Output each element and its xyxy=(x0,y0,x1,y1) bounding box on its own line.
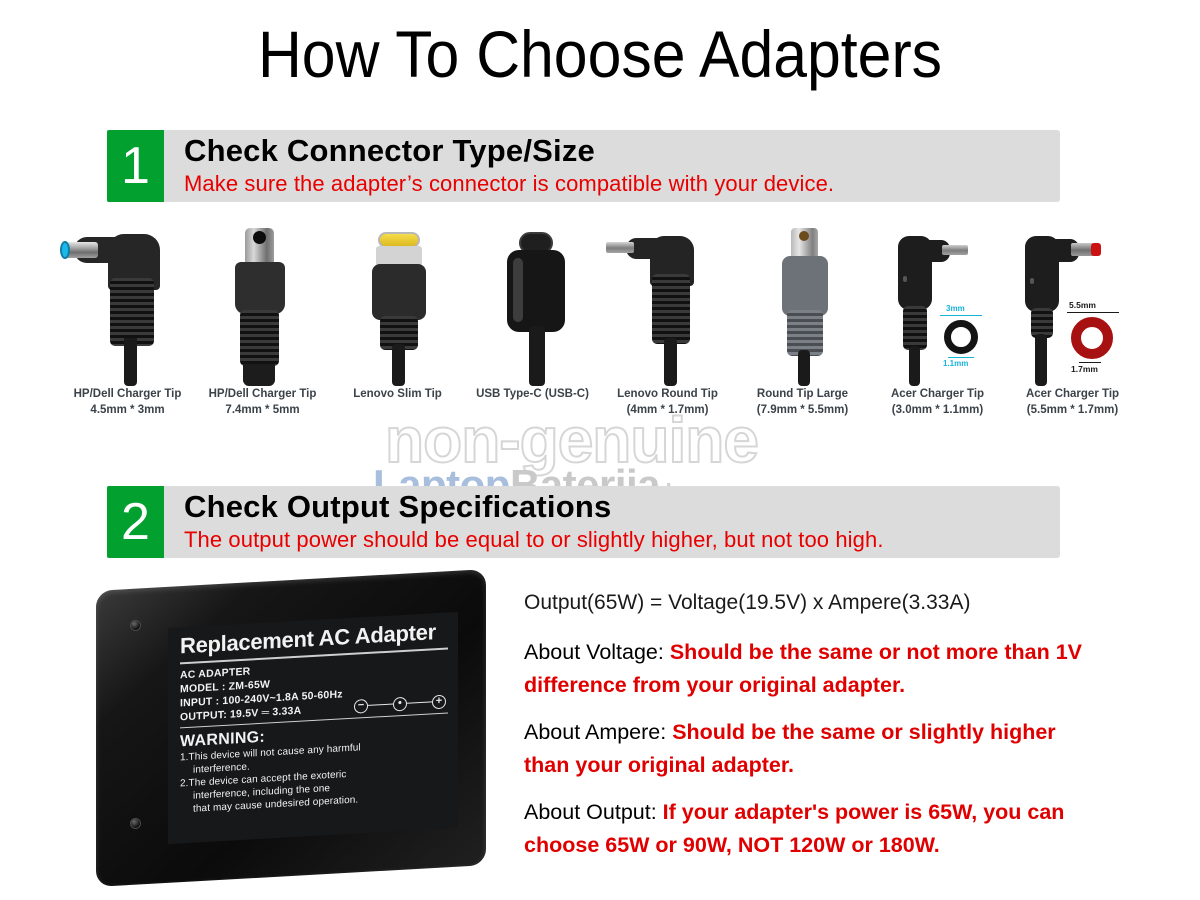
about-voltage-paragraph: About Voltage: Should be the same or not… xyxy=(524,636,1084,702)
connector-size: (5.5mm * 1.7mm) xyxy=(1005,402,1140,418)
page-title: How To Choose Adapters xyxy=(48,14,1152,94)
connector-name: Round Tip Large xyxy=(735,386,870,402)
dimension-callout-small: 3mm 1.1mm xyxy=(930,304,992,372)
about-voltage-lead: About Voltage: xyxy=(524,640,670,664)
dimension-callout-large: 5.5mm 1.7mm xyxy=(1057,300,1133,376)
step-2-number: 2 xyxy=(107,486,164,558)
step-1-text-group: Check Connector Type/Size Make sure the … xyxy=(184,132,1052,198)
acer-3011-tip-icon: 3mm 1.1mm xyxy=(870,226,1005,386)
about-output-lead: About Output: xyxy=(524,800,663,824)
step-2-title: Check Output Specifications xyxy=(184,488,1052,525)
adapter-label-plate: Replacement AC Adapter AC ADAPTER MODEL … xyxy=(168,612,458,844)
infographic-page: How To Choose Adapters 1 Check Connector… xyxy=(0,0,1200,900)
connector-item: 3mm 1.1mm Acer Charger Tip (3.0mm * 1.1m… xyxy=(870,226,1005,436)
dimension-inner-label: 1.7mm xyxy=(1071,364,1098,374)
step-2-header: 2 Check Output Specifications The output… xyxy=(107,486,1060,558)
connector-item: USB Type-C (USB-C) xyxy=(465,226,600,436)
dimension-outer-label: 3mm xyxy=(946,304,965,313)
connector-item: Lenovo Slim Tip xyxy=(330,226,465,436)
connector-item: HP/Dell Charger Tip 4.5mm * 3mm xyxy=(60,226,195,436)
connector-size: (3.0mm * 1.1mm) xyxy=(870,402,1005,418)
adapter-label-title: Replacement AC Adapter xyxy=(180,618,448,659)
polarity-negative-icon: − xyxy=(354,698,368,713)
dimension-inner-label: 1.1mm xyxy=(943,359,968,368)
output-spec-text-column: Output(65W) = Voltage(19.5V) x Ampere(3.… xyxy=(524,588,1084,876)
ac-adapter-photo: Replacement AC Adapter AC ADAPTER MODEL … xyxy=(96,580,486,880)
connector-name: Lenovo Round Tip xyxy=(600,386,735,402)
about-ampere-paragraph: About Ampere: Should be the same or slig… xyxy=(524,716,1084,782)
connector-size: (4mm * 1.7mm) xyxy=(600,402,735,418)
step-2-subtitle: The output power should be equal to or s… xyxy=(184,525,1052,554)
connector-item: HP/Dell Charger Tip 7.4mm * 5mm xyxy=(195,226,330,436)
connector-name: USB Type-C (USB-C) xyxy=(465,386,600,402)
round-tip-large-icon xyxy=(735,226,870,386)
connector-size: 4.5mm * 3mm xyxy=(60,402,195,418)
screw-icon xyxy=(130,620,141,631)
connector-name: HP/Dell Charger Tip xyxy=(195,386,330,402)
adapter-warning-list: 1.This device will not cause any harmful… xyxy=(180,736,448,816)
step-1-subtitle: Make sure the adapter’s connector is com… xyxy=(184,169,1052,198)
connector-name: Acer Charger Tip xyxy=(870,386,1005,402)
step-2-text-group: Check Output Specifications The output p… xyxy=(184,488,1052,554)
screw-icon xyxy=(130,818,141,829)
connector-size: (7.9mm * 5.5mm) xyxy=(735,402,870,418)
connector-name: Acer Charger Tip xyxy=(1005,386,1140,402)
output-equation: Output(65W) = Voltage(19.5V) x Ampere(3.… xyxy=(524,588,1084,618)
polarity-center-icon: • xyxy=(393,696,407,711)
step-1-number: 1 xyxy=(107,130,164,202)
usb-type-c-icon xyxy=(465,226,600,386)
polarity-positive-icon: + xyxy=(432,694,446,709)
connector-item: Lenovo Round Tip (4mm * 1.7mm) xyxy=(600,226,735,436)
lenovo-slim-tip-icon xyxy=(330,226,465,386)
connector-name: HP/Dell Charger Tip xyxy=(60,386,195,402)
acer-5517-tip-icon: 5.5mm 1.7mm xyxy=(1005,226,1140,386)
connector-gallery: HP/Dell Charger Tip 4.5mm * 3mm HP/Dell … xyxy=(60,226,1140,436)
connector-name: Lenovo Slim Tip xyxy=(330,386,465,402)
hp-dell-barrel-tip-icon xyxy=(195,226,330,386)
lenovo-round-tip-icon xyxy=(600,226,735,386)
dimension-outer-label: 5.5mm xyxy=(1069,300,1096,310)
about-output-paragraph: About Output: If your adapter's power is… xyxy=(524,796,1084,862)
connector-item: 5.5mm 1.7mm Acer Charger Tip (5.5mm * 1.… xyxy=(1005,226,1140,436)
hp-dell-l-tip-icon xyxy=(60,226,195,386)
connector-size: 7.4mm * 5mm xyxy=(195,402,330,418)
connector-item: Round Tip Large (7.9mm * 5.5mm) xyxy=(735,226,870,436)
step-1-header: 1 Check Connector Type/Size Make sure th… xyxy=(107,130,1060,202)
step-1-title: Check Connector Type/Size xyxy=(184,132,1052,169)
about-ampere-lead: About Ampere: xyxy=(524,720,672,744)
